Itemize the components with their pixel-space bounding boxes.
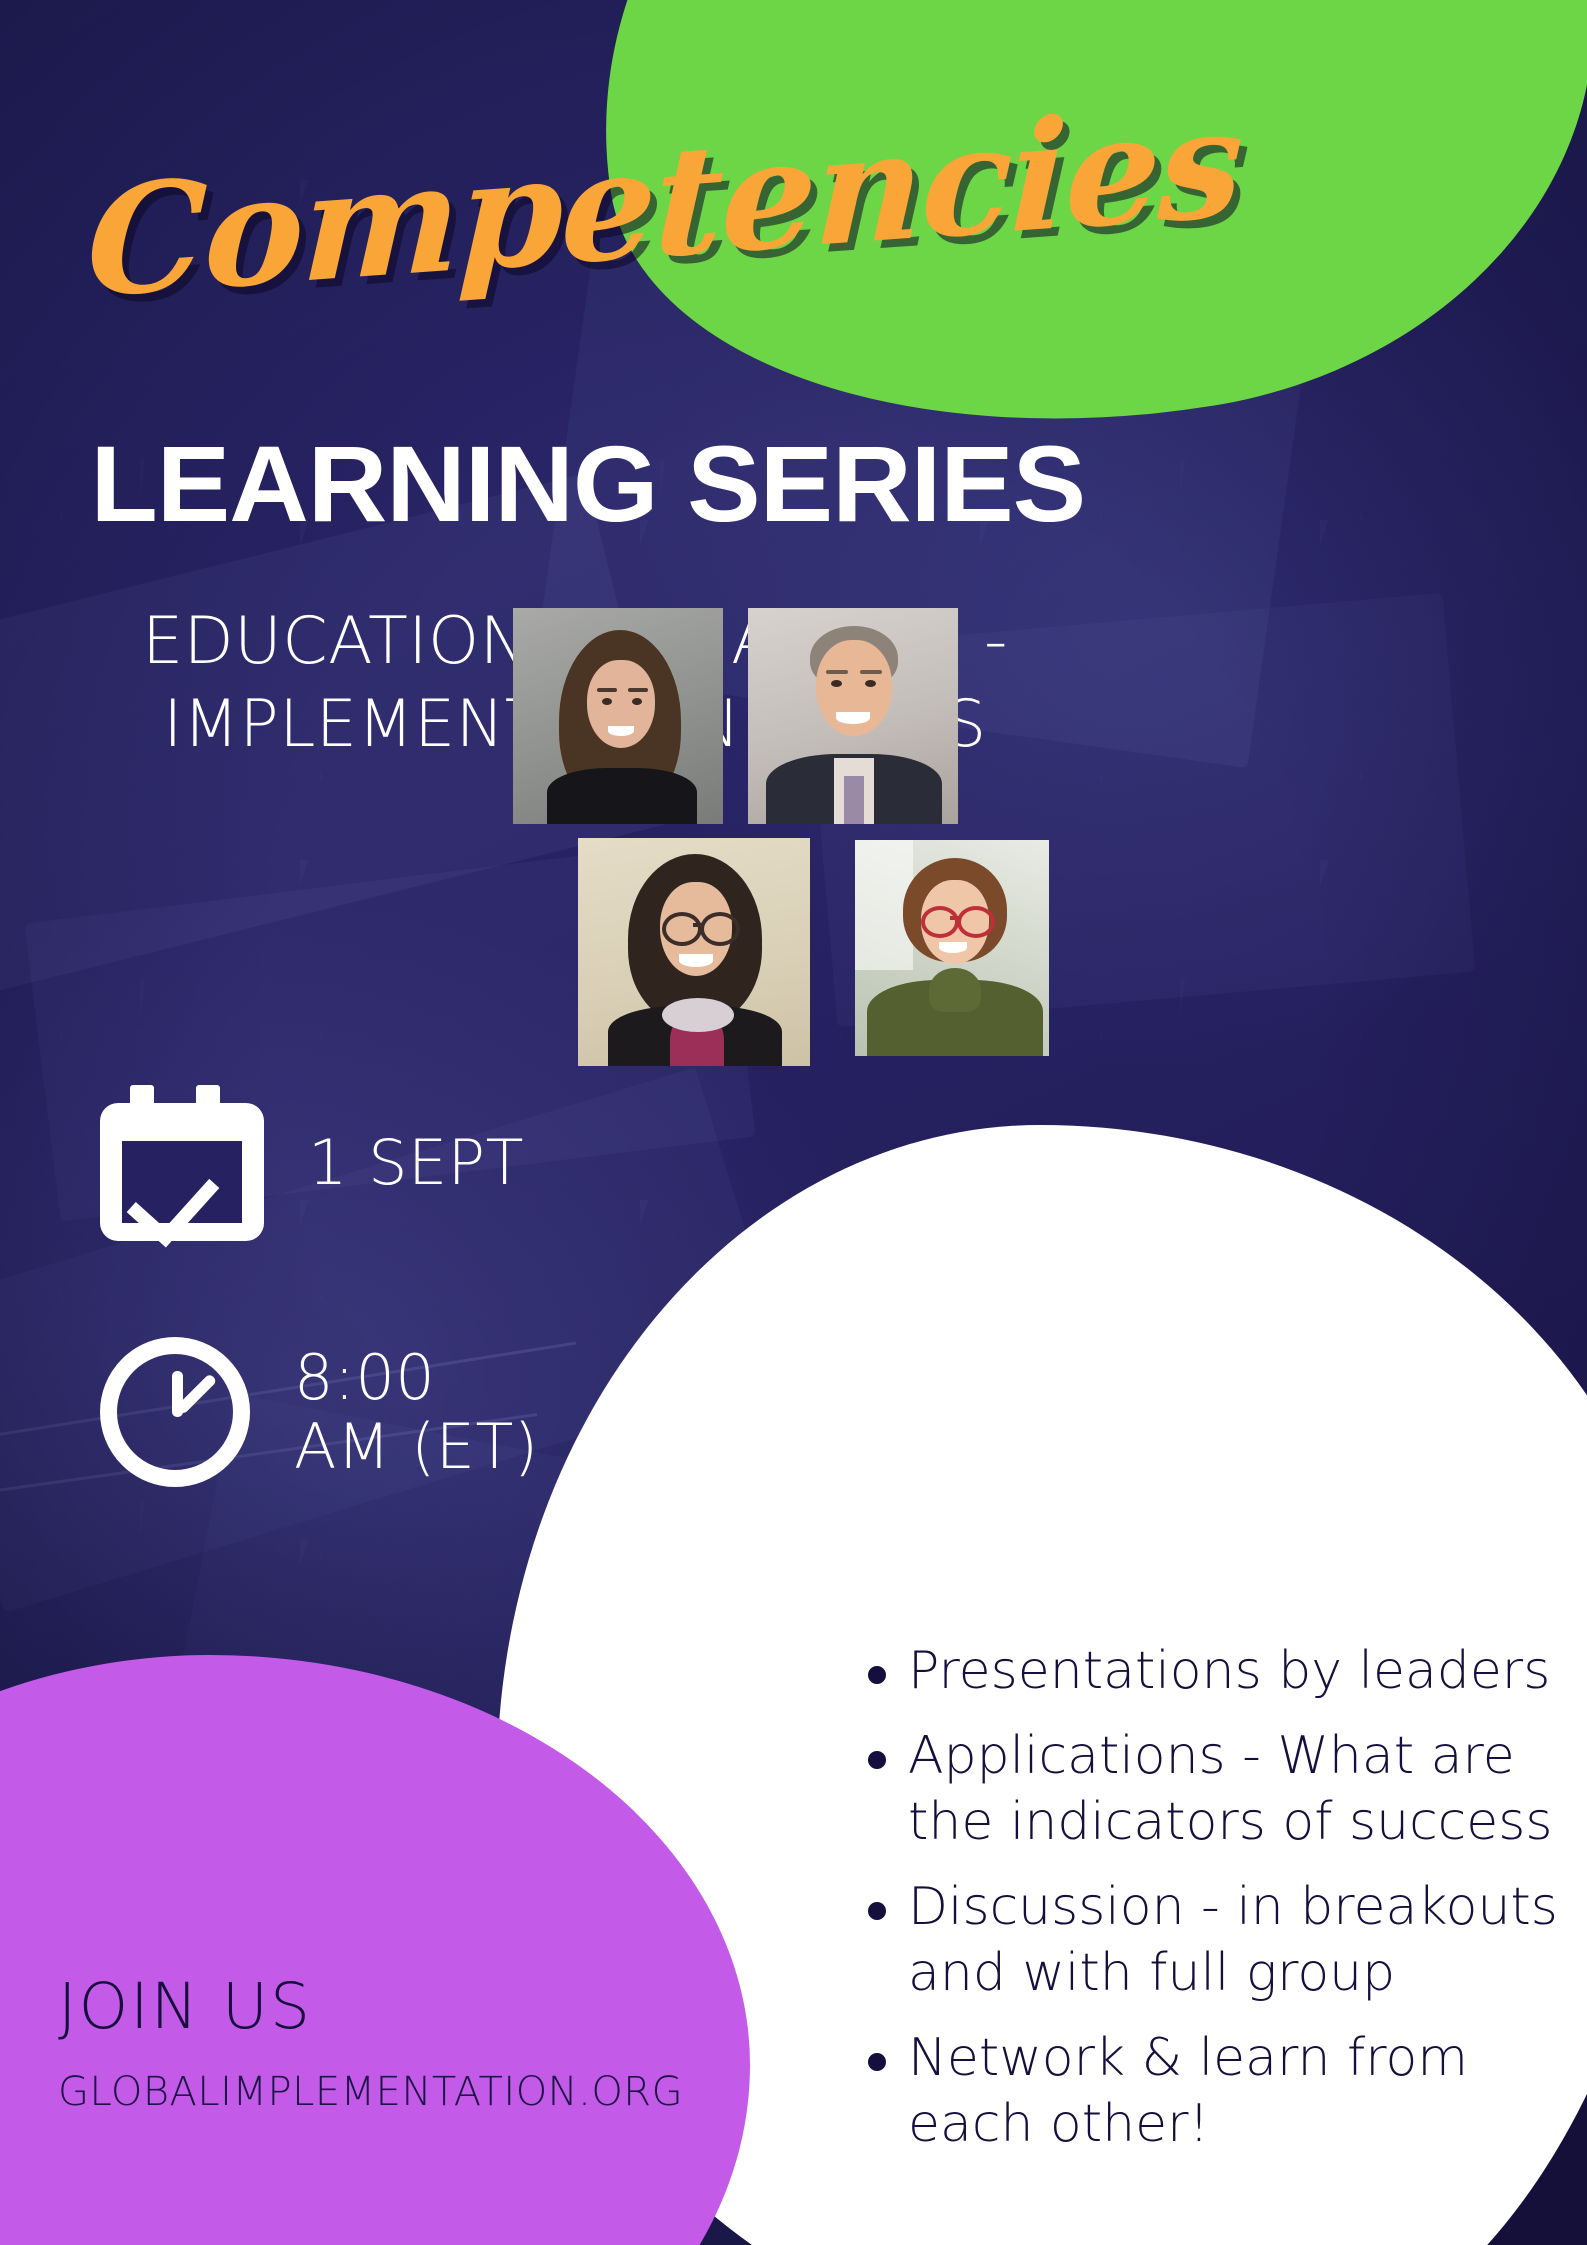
schedule-block: 1 SEPT 8:00 AM (ET) — [100, 1085, 570, 1583]
photo-brow — [628, 688, 648, 692]
photo-eye — [632, 698, 642, 705]
calendar-check-icon — [100, 1085, 264, 1241]
bullet-icon — [868, 1666, 886, 1684]
photo-glasses — [700, 912, 740, 946]
list-item: Applications - What are the indicators o… — [868, 1723, 1558, 1856]
bullet-icon — [868, 1902, 886, 1920]
time-text: 8:00 AM (ET) — [294, 1343, 539, 1482]
speaker-photo-2 — [748, 608, 958, 824]
join-us-label: JOIN US — [58, 1975, 618, 2038]
photo-mouth — [939, 942, 967, 953]
photo-mouth — [679, 954, 713, 967]
photo-mouth — [608, 726, 634, 736]
date-row: 1 SEPT — [100, 1085, 570, 1241]
photo-glasses — [921, 906, 959, 938]
time-row: 8:00 AM (ET) — [100, 1337, 570, 1487]
website-link[interactable]: GLOBALIMPLEMENTATION.ORG — [58, 2072, 618, 2112]
agenda-list: Presentations by leaders Applications - … — [868, 1638, 1558, 2176]
agenda-item-text: Applications - What are the indicators o… — [908, 1723, 1558, 1856]
photo-eye — [602, 698, 612, 705]
photo-glasses-bridge — [950, 916, 959, 920]
photo-collar — [929, 968, 981, 1012]
photo-torso — [547, 768, 697, 824]
photo-eye — [831, 680, 842, 687]
agenda-item-text: Network & learn from each other! — [908, 2025, 1558, 2158]
list-item: Network & learn from each other! — [868, 2025, 1558, 2158]
time-line-2: AM (ET) — [294, 1412, 539, 1481]
page-title: LEARNING SERIES — [88, 430, 1088, 538]
photo-glasses-bridge — [693, 923, 702, 927]
clock-icon — [100, 1337, 250, 1487]
photo-tie — [844, 776, 864, 824]
list-item: Presentations by leaders — [868, 1638, 1558, 1705]
photo-brow — [826, 670, 848, 674]
date-text: 1 SEPT — [308, 1128, 524, 1197]
photo-mouth — [836, 712, 870, 724]
photo-brow — [597, 688, 617, 692]
agenda-item-text: Discussion - in breakouts and with full … — [908, 1874, 1558, 2007]
join-us-block: JOIN US GLOBALIMPLEMENTATION.ORG — [58, 1975, 618, 2112]
photo-glasses — [957, 906, 995, 938]
photo-brow — [860, 670, 882, 674]
speaker-photo-1 — [513, 608, 723, 824]
speaker-photo-3 — [578, 838, 810, 1066]
agenda-item-text: Presentations by leaders — [908, 1638, 1558, 1705]
bullet-icon — [868, 1751, 886, 1769]
photo-eye — [865, 680, 876, 687]
bullet-icon — [868, 2053, 886, 2071]
event-poster: Competencies LEARNING SERIES EDUCATION: … — [0, 0, 1587, 2245]
speaker-photo-4 — [855, 840, 1049, 1056]
time-line-1: 8:00 — [294, 1341, 435, 1414]
photo-scarf — [662, 998, 734, 1032]
photo-glasses — [662, 912, 702, 946]
list-item: Discussion - in breakouts and with full … — [868, 1874, 1558, 2007]
